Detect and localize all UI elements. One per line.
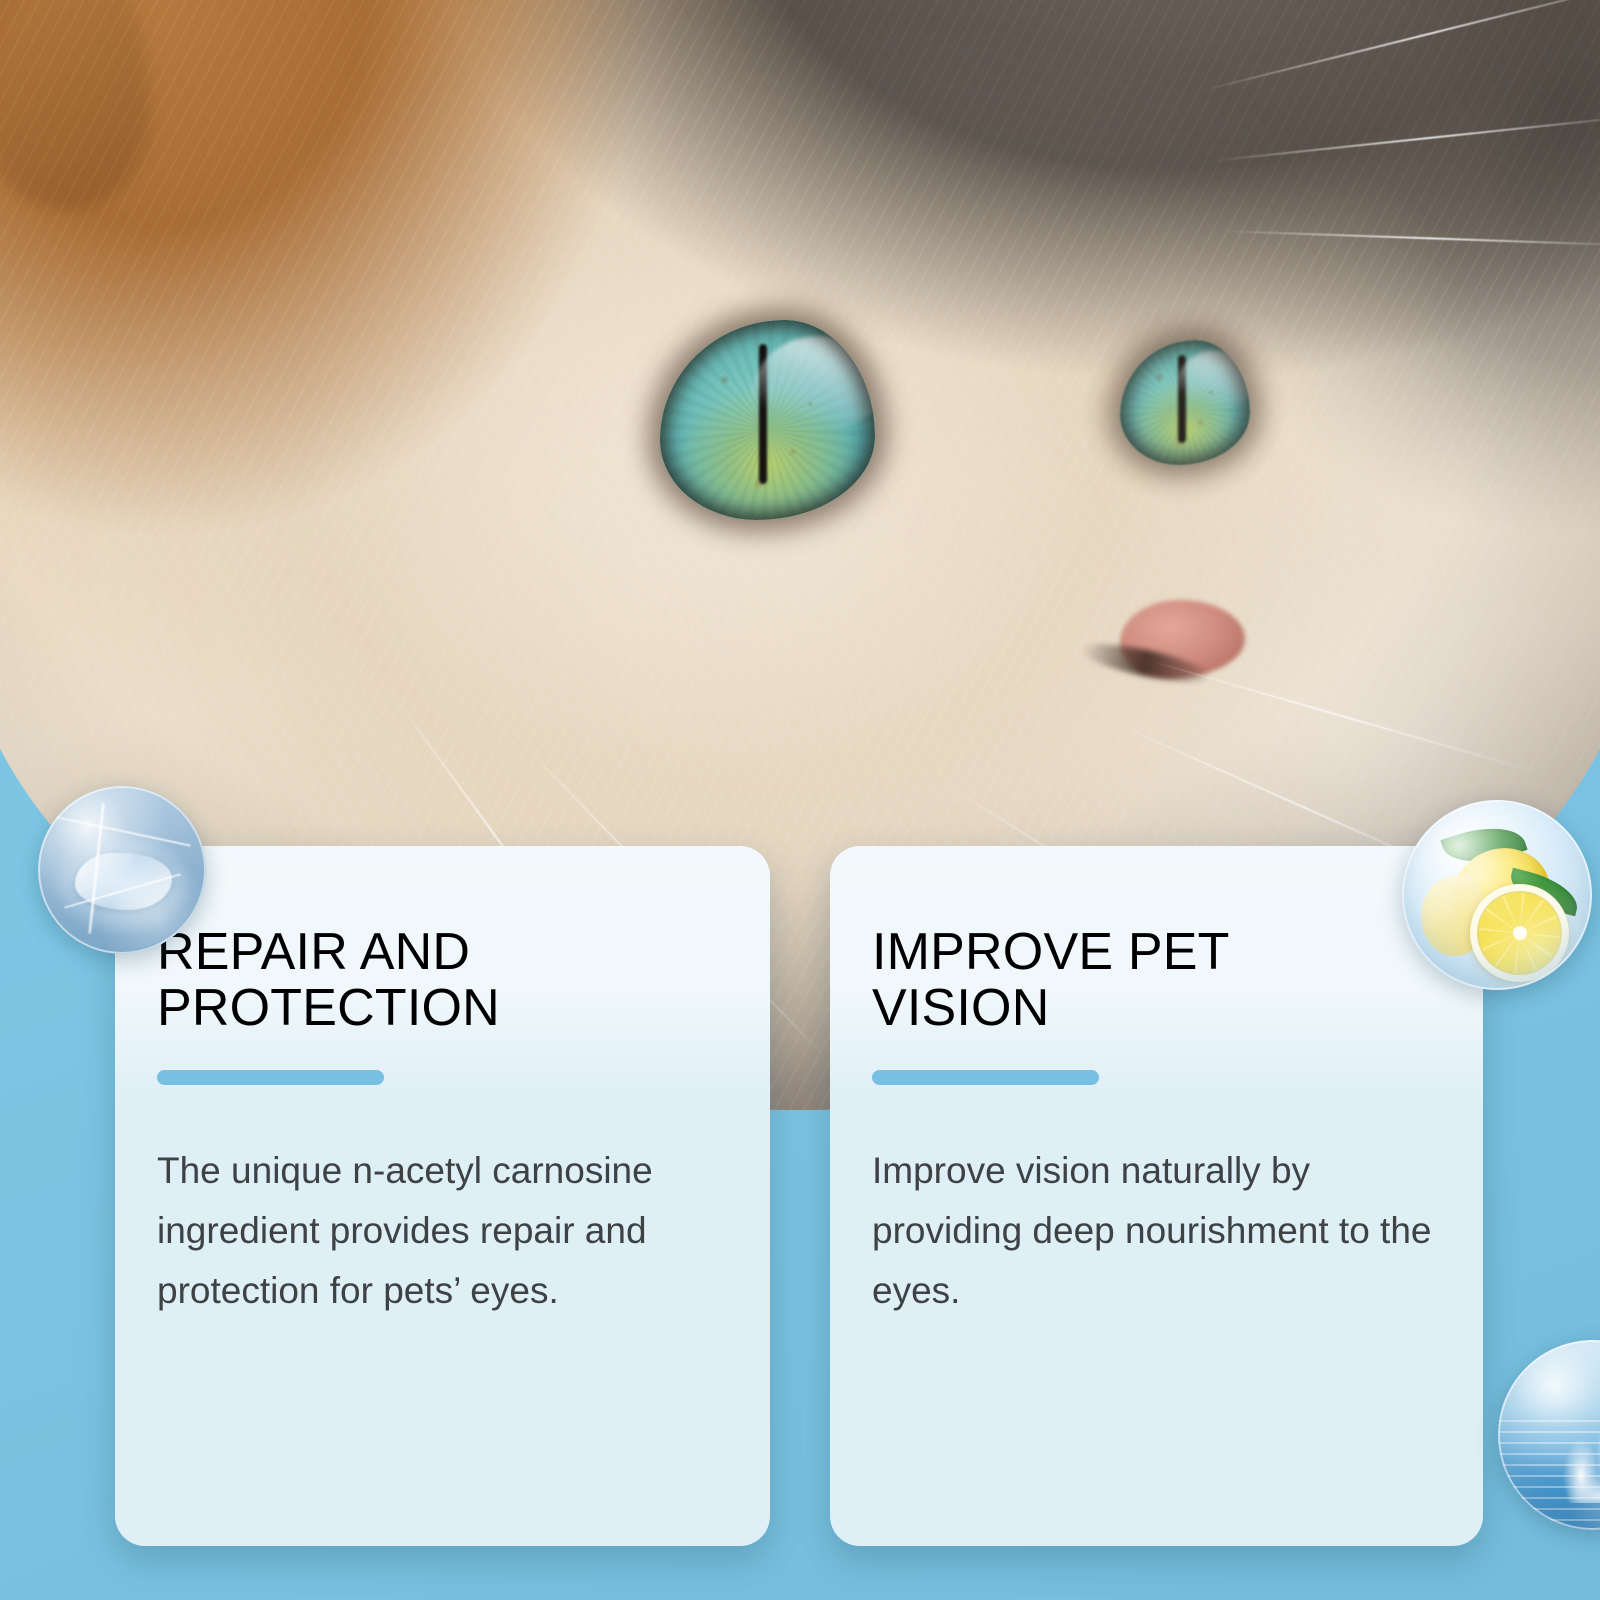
banner-stage: REPAIR AND PROTECTION The unique n-acety… [0,0,1600,1600]
card-title: REPAIR AND PROTECTION [157,924,728,1036]
water-splash [1555,1412,1600,1503]
lemon-bubble-icon [1402,800,1592,990]
feature-card-improve-pet-vision[interactable]: IMPROVE PET VISION Improve vision natura… [830,846,1483,1546]
card-content: IMPROVE PET VISION Improve vision natura… [830,846,1483,1546]
card-body-text: Improve vision naturally by providing de… [872,1141,1441,1321]
card-content: REPAIR AND PROTECTION The unique n-acety… [115,846,770,1546]
accent-bar [157,1070,384,1085]
water-splash-bubble-icon [1498,1340,1600,1530]
crystal-water-bubble-icon [38,786,206,954]
card-body-text: The unique n-acetyl carnosine ingredient… [157,1141,728,1321]
lemon-slice [1470,884,1569,983]
card-title: IMPROVE PET VISION [872,924,1441,1036]
feature-card-repair-and-protection[interactable]: REPAIR AND PROTECTION The unique n-acety… [115,846,770,1546]
accent-bar [872,1070,1099,1085]
